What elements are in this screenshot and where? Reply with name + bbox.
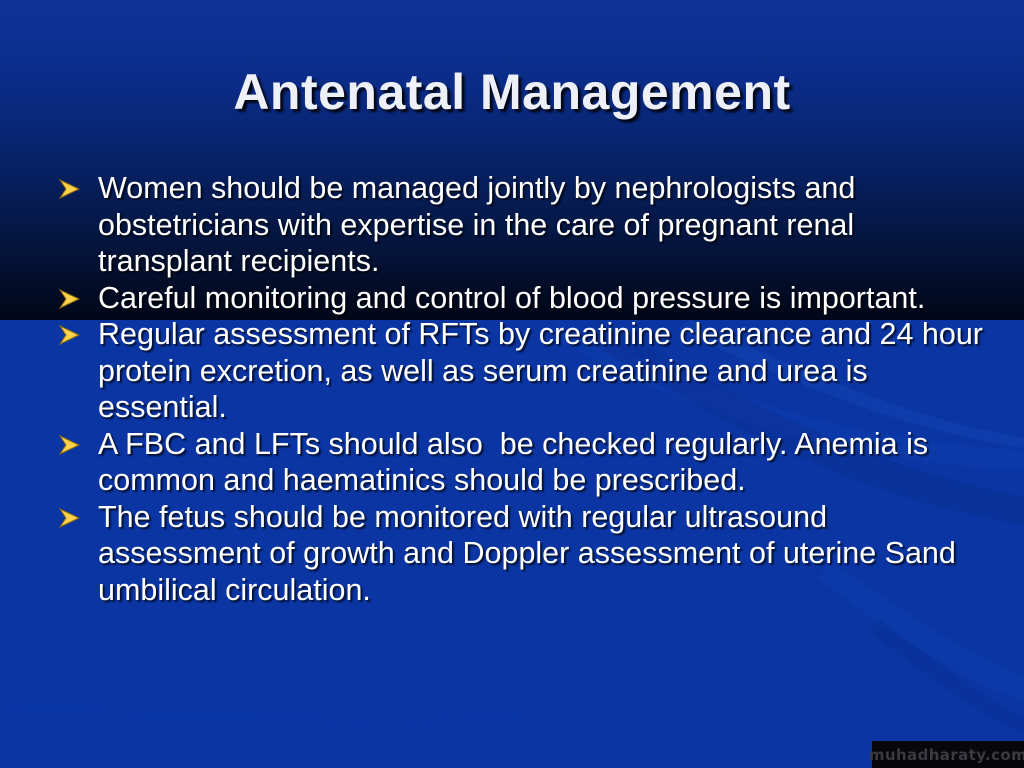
arrow-bullet-icon — [58, 434, 82, 456]
presentation-slide: Antenatal Management Women should be man… — [0, 0, 1024, 768]
arrow-bullet-icon — [58, 324, 82, 346]
list-item: Women should be managed jointly by nephr… — [0, 170, 1024, 280]
watermark-bar: muhadharaty.com — [872, 741, 1024, 768]
list-item: Regular assessment of RFTs by creatinine… — [0, 316, 1024, 426]
list-item: Careful monitoring and control of blood … — [0, 280, 1024, 317]
list-item: A FBC and LFTs should also be checked re… — [0, 426, 1024, 499]
watermark-text: muhadharaty.com — [869, 746, 1024, 764]
list-item-text: The fetus should be monitored with regul… — [98, 500, 964, 607]
arrow-bullet-icon — [58, 288, 82, 310]
arrow-bullet-icon — [58, 507, 82, 529]
list-item-text: Women should be managed jointly by nephr… — [98, 171, 864, 278]
list-item-text: Careful monitoring and control of blood … — [98, 281, 925, 315]
list-item-text: A FBC and LFTs should also be checked re… — [98, 427, 937, 498]
arrow-bullet-icon — [58, 178, 82, 200]
list-item: The fetus should be monitored with regul… — [0, 499, 1024, 609]
bullet-list: Women should be managed jointly by nephr… — [0, 170, 1024, 608]
slide-title: Antenatal Management — [0, 63, 1024, 121]
list-item-text: Regular assessment of RFTs by creatinine… — [98, 317, 991, 424]
